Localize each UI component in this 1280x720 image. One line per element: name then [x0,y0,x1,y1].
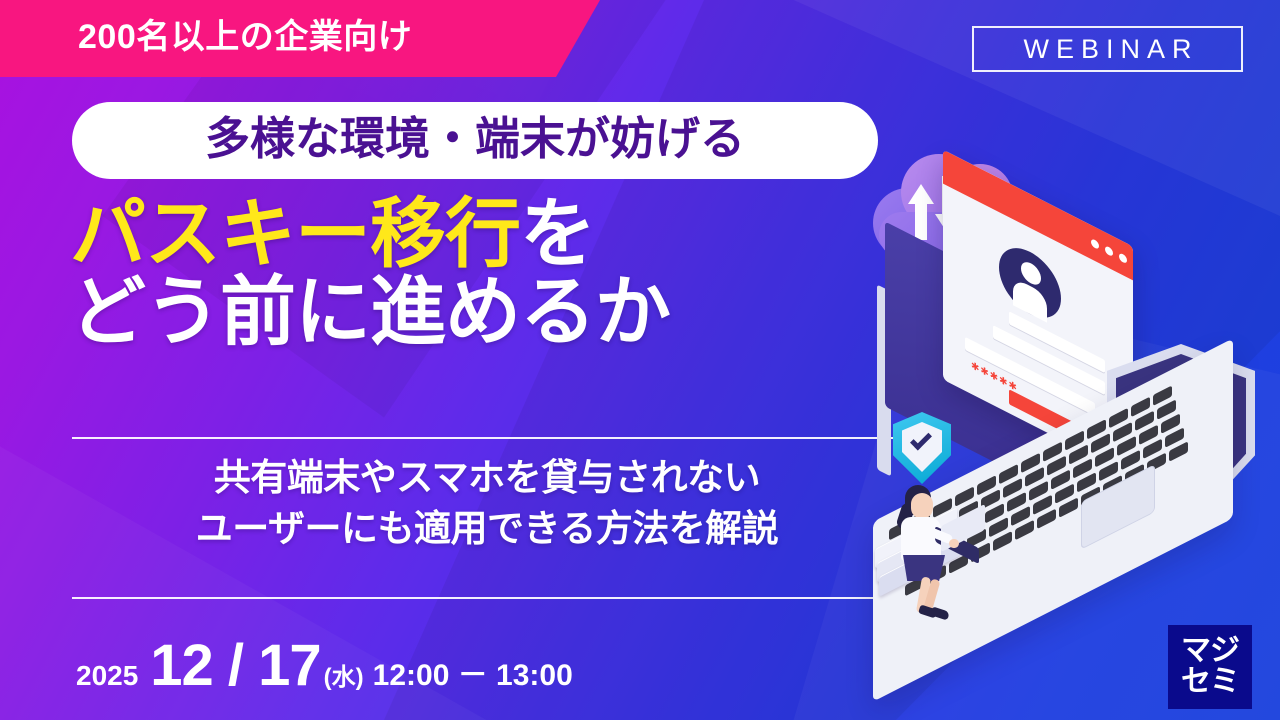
headline-accent: パスキー移行 [70,192,520,277]
person-with-laptop [893,485,973,615]
security-illustration: ✱✱✱✱✱ [855,130,1280,655]
schedule-date: 12 / 17 [150,632,320,699]
webinar-badge: WEBINAR [972,26,1243,72]
headline-line-1: パスキー移行を [70,196,890,274]
audience-ribbon-label: 200名以上の企業向け [78,20,412,57]
window-dot-icon [1105,245,1113,257]
divider-bottom [72,597,900,599]
schedule-time: 12:00 － 13:00 [373,650,573,694]
schedule-day-of-week: (水) [324,657,364,692]
subtitle: 共有端末やスマホを貸与されない ユーザーにも適用できる方法を解説 [72,452,902,554]
person-hand [949,539,959,548]
logo-line-2: セミ [1181,667,1239,698]
arrow-up-icon [915,202,927,240]
webinar-banner: 200名以上の企業向け WEBINAR 多様な環境・端末が妨げる パスキー移行を… [0,0,1280,720]
subtitle-line-1: 共有端末やスマホを貸与されない [72,452,902,503]
schedule: 2025 12 / 17 (水) 12:00 － 13:00 [76,632,573,699]
kicker-pill: 多様な環境・端末が妨げる [72,102,878,179]
headline-line-1-rest: を [520,192,595,277]
webinar-badge-label: WEBINAR [1016,36,1198,63]
window-dot-icon [1091,238,1099,250]
divider-top [72,437,900,439]
audience-ribbon: 200名以上の企業向け [0,0,600,77]
kicker-pill-label: 多様な環境・端末が妨げる [205,116,745,165]
schedule-year: 2025 [76,660,138,692]
headline-line-2: どう前に進めるか [70,274,890,352]
window-dot-icon [1119,252,1127,264]
person-face [911,493,933,519]
page-title: パスキー移行を どう前に進めるか [70,196,890,353]
subtitle-line-2: ユーザーにも適用できる方法を解説 [72,503,902,554]
arrow-up-icon [908,184,934,204]
